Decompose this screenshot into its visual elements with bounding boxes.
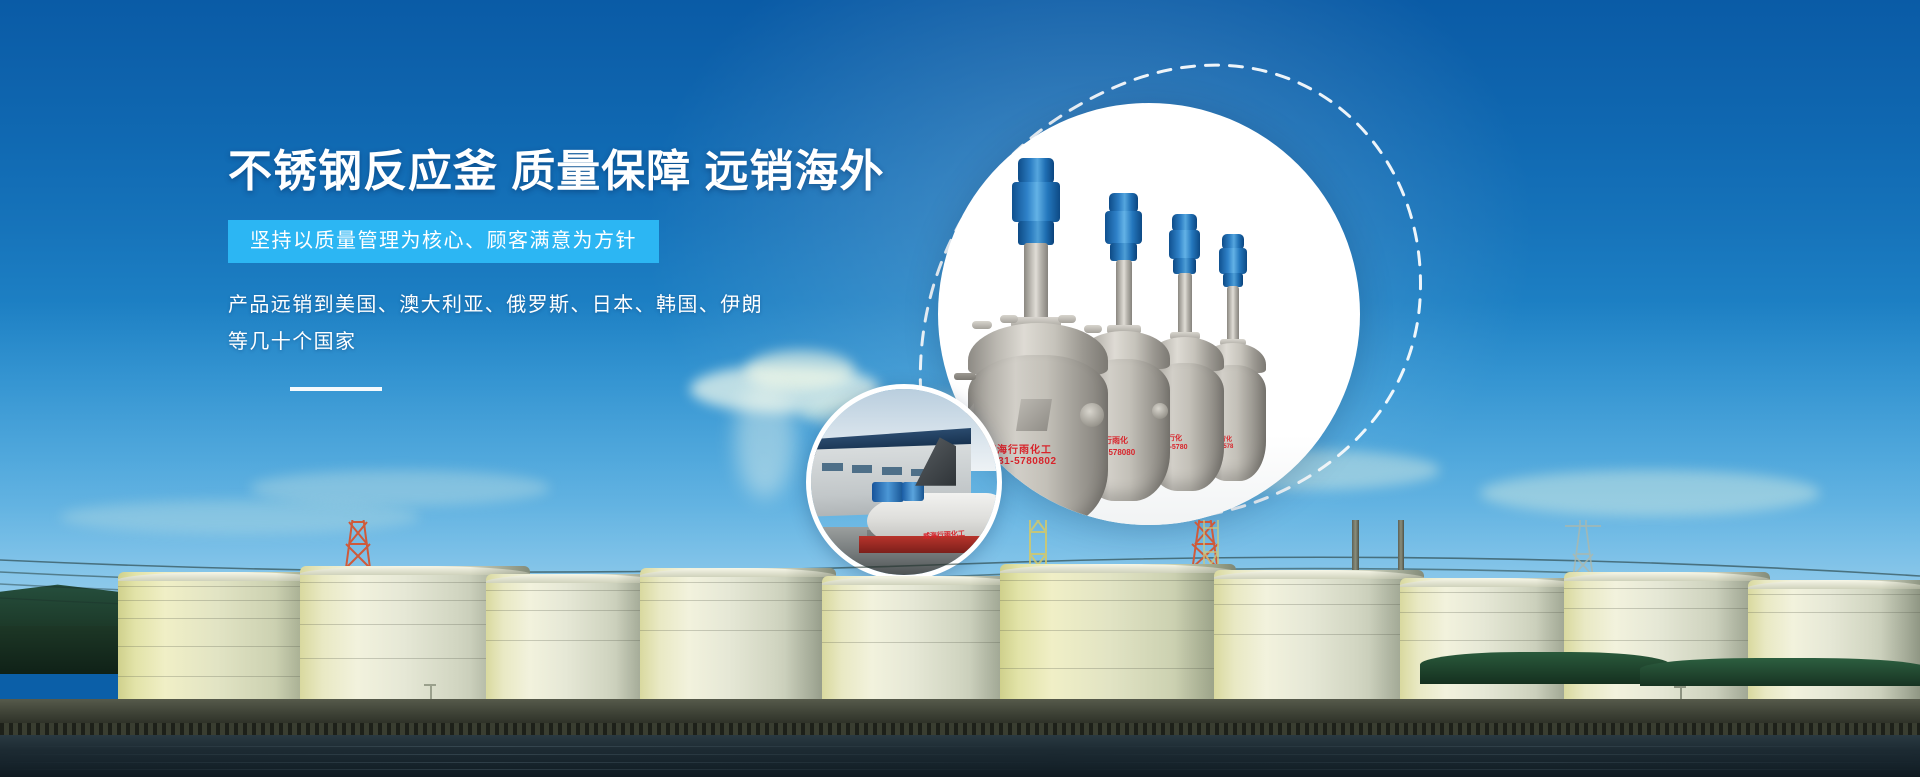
treeline-patch bbox=[1420, 652, 1670, 684]
water bbox=[0, 735, 1920, 777]
manhole-port bbox=[1080, 403, 1104, 427]
lamp-arm bbox=[1674, 686, 1686, 688]
gearbox-icon bbox=[1110, 243, 1137, 261]
subtitle-text: 坚持以质量管理为核心、顾客满意为方针 bbox=[250, 230, 637, 252]
photo-window bbox=[882, 467, 902, 474]
quay-wall bbox=[0, 699, 1920, 725]
smoke-plume bbox=[735, 378, 795, 498]
gearbox-icon bbox=[1018, 221, 1054, 245]
nozzle-flange bbox=[1084, 325, 1102, 333]
motor-icon bbox=[1012, 182, 1060, 222]
nozzle-flange bbox=[972, 321, 992, 329]
agitator-shaft bbox=[1178, 273, 1192, 335]
agitator-shaft bbox=[1116, 260, 1132, 328]
motor-icon bbox=[1105, 211, 1142, 244]
support-fin bbox=[1016, 399, 1052, 431]
decorative-divider bbox=[290, 387, 382, 391]
treeline-patch bbox=[1640, 658, 1920, 686]
nozzle-flange bbox=[1000, 315, 1018, 323]
agitator-shaft bbox=[1024, 243, 1048, 321]
motor-icon bbox=[1169, 230, 1200, 259]
motor-top-icon bbox=[1109, 193, 1138, 213]
manhole-port bbox=[1152, 403, 1168, 419]
lamp-arm bbox=[424, 684, 436, 686]
description-block: 产品远销到美国、澳大利亚、俄罗斯、日本、韩国、伊朗 等几十个国家 bbox=[228, 287, 928, 361]
photo-window bbox=[852, 465, 872, 472]
hero-banner: 威海行化 0631-578 威海行化 0631-5780 bbox=[0, 0, 1920, 777]
product-showcase-circle: 威海行化 0631-578 威海行化 0631-5780 bbox=[938, 103, 1360, 525]
tank-farm-scene bbox=[0, 520, 1920, 777]
subtitle-highlight-bar: 坚持以质量管理为核心、顾客满意为方针 bbox=[228, 220, 659, 263]
nozzle-flange bbox=[1058, 315, 1076, 323]
agitator-shaft bbox=[1227, 286, 1239, 342]
motor-icon bbox=[1219, 248, 1247, 274]
photo-motor-icon bbox=[872, 482, 904, 502]
gearbox-icon bbox=[1223, 273, 1243, 287]
side-nozzle bbox=[954, 373, 976, 380]
description-line-2: 等几十个国家 bbox=[228, 324, 928, 361]
banner-copy: 不锈钢反应釜 质量保障 远销海外 坚持以质量管理为核心、顾客满意为方针 产品远销… bbox=[228, 150, 928, 391]
gearbox-icon bbox=[1173, 258, 1196, 274]
motor-top-icon bbox=[1018, 158, 1054, 184]
cloud bbox=[1480, 470, 1820, 516]
photo-window bbox=[822, 463, 842, 470]
description-line-1: 产品远销到美国、澳大利亚、俄罗斯、日本、韩国、伊朗 bbox=[228, 287, 928, 324]
page-title: 不锈钢反应釜 质量保障 远销海外 bbox=[228, 150, 928, 194]
